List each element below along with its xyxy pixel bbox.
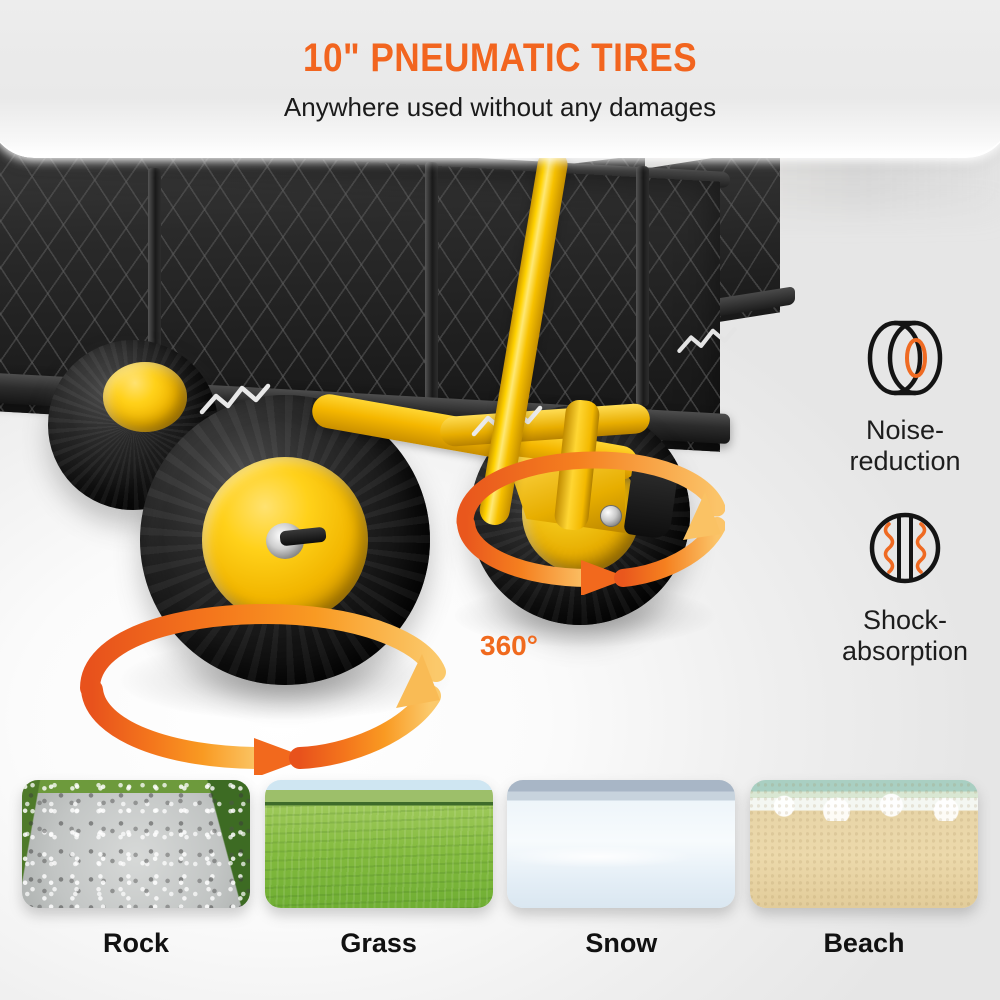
rotation-arrow-rear-icon: [78, 600, 448, 775]
header-banner: 10" PNEUMATIC TIRES Anywhere used withou…: [0, 0, 1000, 158]
terrain-label: Rock: [22, 928, 250, 959]
latch-hook-icon: [676, 322, 738, 358]
lawn-thumbnail: [265, 780, 493, 908]
terrain-item-snow: Snow: [507, 780, 735, 1000]
terrain-thumbnail-strip: Rock Grass Snow Beach: [0, 780, 1000, 1000]
latch-hook-icon: [198, 378, 272, 420]
feature-noise-reduction: Noise- reduction: [800, 310, 1000, 477]
feature-label: Shock- absorption: [800, 605, 1000, 667]
terrain-item-rock: Rock: [22, 780, 250, 1000]
cart-corner-post: [636, 166, 649, 407]
terrain-label: Snow: [507, 928, 735, 959]
terrain-item-grass: Grass: [265, 780, 493, 1000]
gravel-thumbnail: [22, 780, 250, 908]
feature-label-line2: absorption: [842, 636, 968, 666]
tire-icon: [800, 310, 1000, 405]
terrain-label: Grass: [265, 928, 493, 959]
feature-label-line2: reduction: [849, 446, 960, 476]
feature-shock-absorption: Shock- absorption: [800, 500, 1000, 667]
snowfield-thumbnail: [507, 780, 735, 908]
page-title: 10" PNEUMATIC TIRES: [49, 36, 950, 81]
feature-label-line1: Shock-: [863, 605, 947, 635]
feature-label-line1: Noise-: [866, 415, 944, 445]
cart-corner-post: [425, 162, 438, 413]
rotation-degree-label: 360°: [480, 630, 538, 662]
terrain-item-beach: Beach: [750, 780, 978, 1000]
shock-absorber-icon: [800, 500, 1000, 595]
wheel-rim: [103, 362, 187, 432]
rotation-arrow-front-icon: [455, 450, 725, 595]
page-subtitle: Anywhere used without any damages: [0, 92, 1000, 123]
feature-label: Noise- reduction: [800, 415, 1000, 477]
terrain-label: Beach: [750, 928, 978, 959]
sand-surf-thumbnail: [750, 780, 978, 908]
